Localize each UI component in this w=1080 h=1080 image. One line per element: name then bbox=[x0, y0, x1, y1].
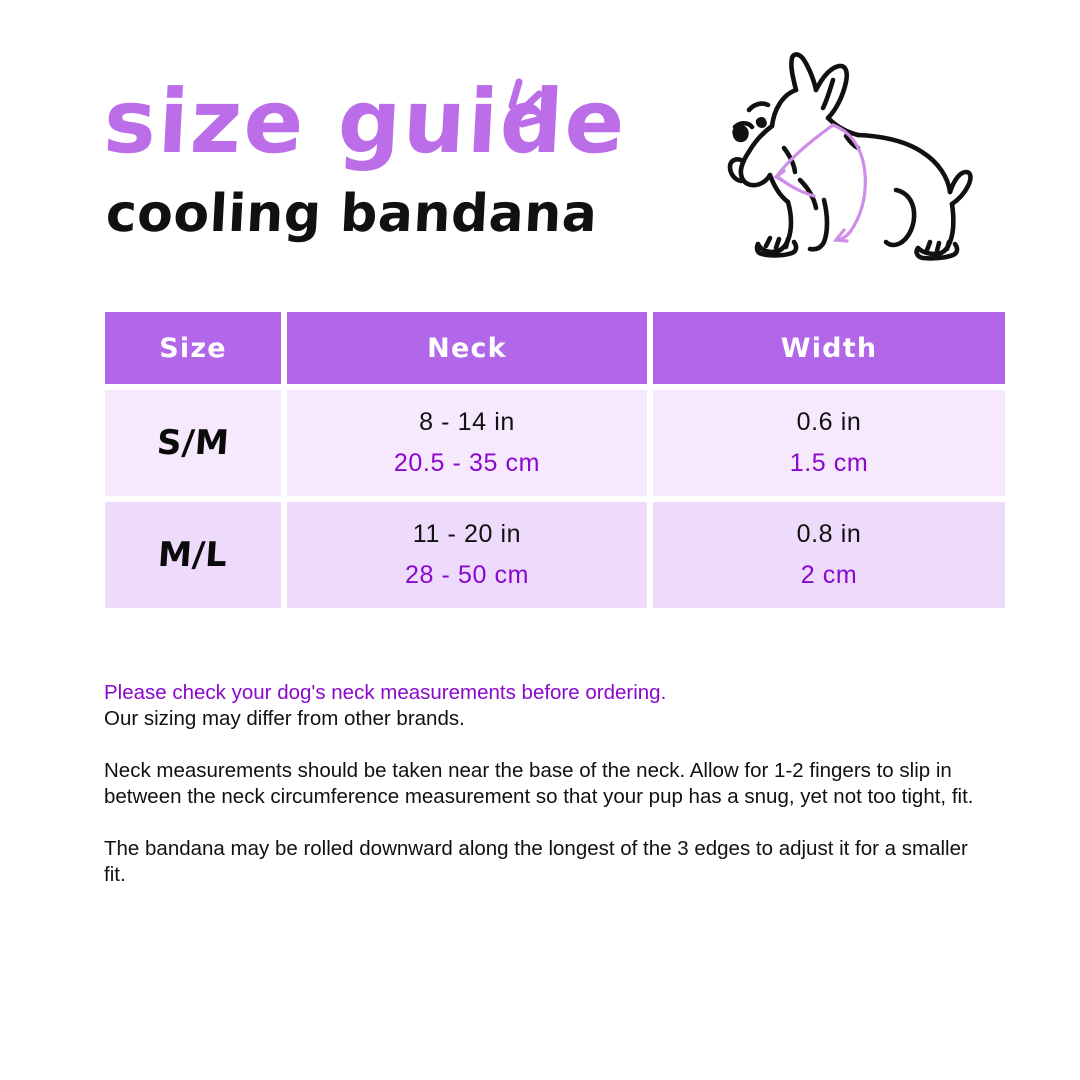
size-guide-table: Size Neck Width S/M 8 - 14 in 20.5 - 35 … bbox=[99, 306, 1011, 614]
table-row: M/L 11 - 20 in 28 - 50 cm 0.8 in 2 cm bbox=[105, 502, 1005, 608]
neck-centimeters: 28 - 50 cm bbox=[287, 561, 647, 590]
page-subtitle: cooling bandana bbox=[105, 188, 666, 240]
width-inches: 0.8 in bbox=[653, 520, 1005, 549]
notes-section: Please check your dog's neck measurement… bbox=[104, 680, 980, 888]
header-area: size guide cooling bandana bbox=[0, 0, 1080, 290]
neck-inches: 11 - 20 in bbox=[287, 520, 647, 549]
cell-neck: 8 - 14 in 20.5 - 35 cm bbox=[287, 390, 647, 496]
width-inches: 0.6 in bbox=[653, 408, 1005, 437]
note-paragraph-measuring: Neck measurements should be taken near t… bbox=[104, 758, 980, 810]
width-centimeters: 2 cm bbox=[653, 561, 1005, 590]
cell-neck: 11 - 20 in 28 - 50 cm bbox=[287, 502, 647, 608]
sparkle-icon bbox=[492, 74, 572, 154]
column-header-neck: Neck bbox=[287, 312, 647, 384]
note-secondary: Our sizing may differ from other brands. bbox=[104, 706, 980, 732]
table-header-row: Size Neck Width bbox=[105, 312, 1005, 384]
title-block: size guide cooling bandana bbox=[104, 78, 664, 240]
column-header-size: Size bbox=[105, 312, 281, 384]
cell-width: 0.6 in 1.5 cm bbox=[653, 390, 1005, 496]
note-paragraph-rolling: The bandana may be rolled downward along… bbox=[104, 836, 980, 888]
page-title: size guide bbox=[102, 78, 667, 166]
neck-inches: 8 - 14 in bbox=[287, 408, 647, 437]
size-label: M/L bbox=[157, 535, 229, 575]
note-highlight: Please check your dog's neck measurement… bbox=[104, 680, 980, 706]
size-label: S/M bbox=[155, 423, 230, 463]
table-row: S/M 8 - 14 in 20.5 - 35 cm 0.6 in 1.5 cm bbox=[105, 390, 1005, 496]
cell-width: 0.8 in 2 cm bbox=[653, 502, 1005, 608]
width-centimeters: 1.5 cm bbox=[653, 449, 1005, 478]
column-header-width: Width bbox=[653, 312, 1005, 384]
neck-centimeters: 20.5 - 35 cm bbox=[287, 449, 647, 478]
notes-spacer bbox=[104, 810, 980, 836]
cell-size: S/M bbox=[105, 390, 281, 496]
french-bulldog-illustration bbox=[700, 40, 980, 290]
cell-size: M/L bbox=[105, 502, 281, 608]
notes-spacer bbox=[104, 732, 980, 758]
